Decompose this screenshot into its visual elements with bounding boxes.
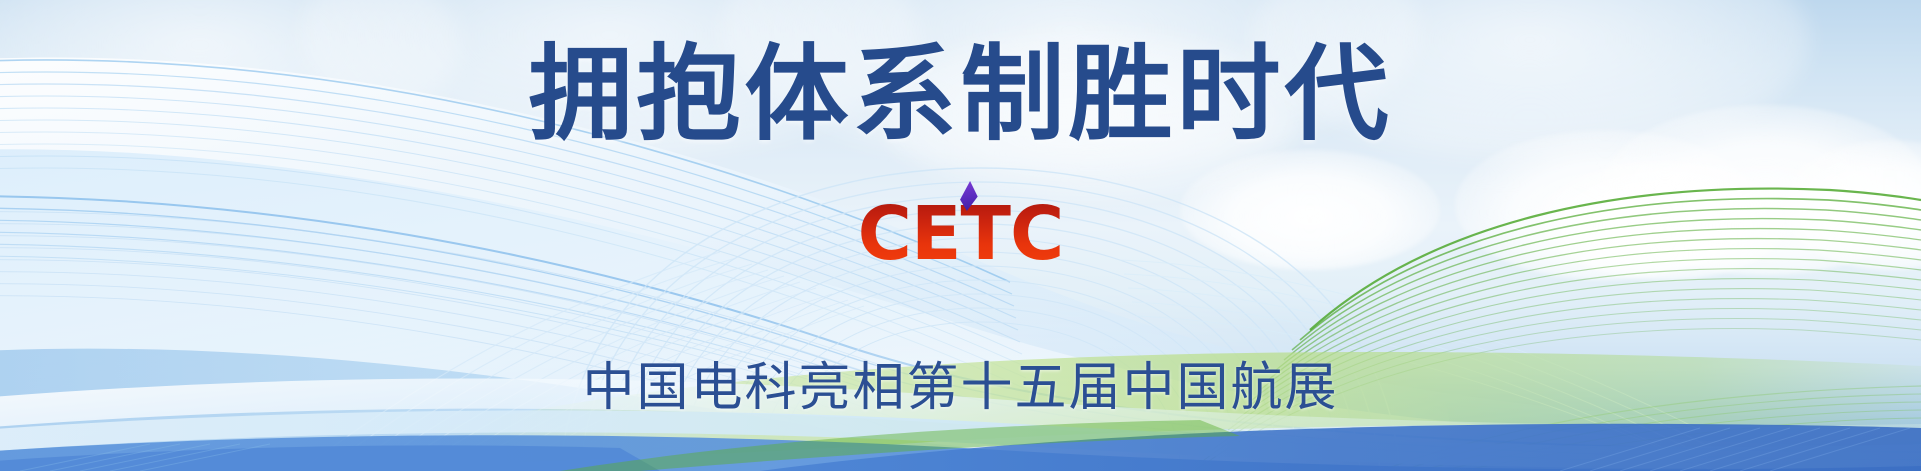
cetc-airshow-banner: 拥抱体系制胜时代 CETC 中国电科亮相第十五届中国航展 — [0, 0, 1921, 471]
cetc-logo: CETC — [0, 197, 1921, 271]
cetc-wordmark: CETC — [858, 191, 1064, 277]
banner-subtitle: 中国电科亮相第十五届中国航展 — [0, 345, 1921, 420]
banner-headline: 拥抱体系制胜时代 — [0, 38, 1921, 150]
